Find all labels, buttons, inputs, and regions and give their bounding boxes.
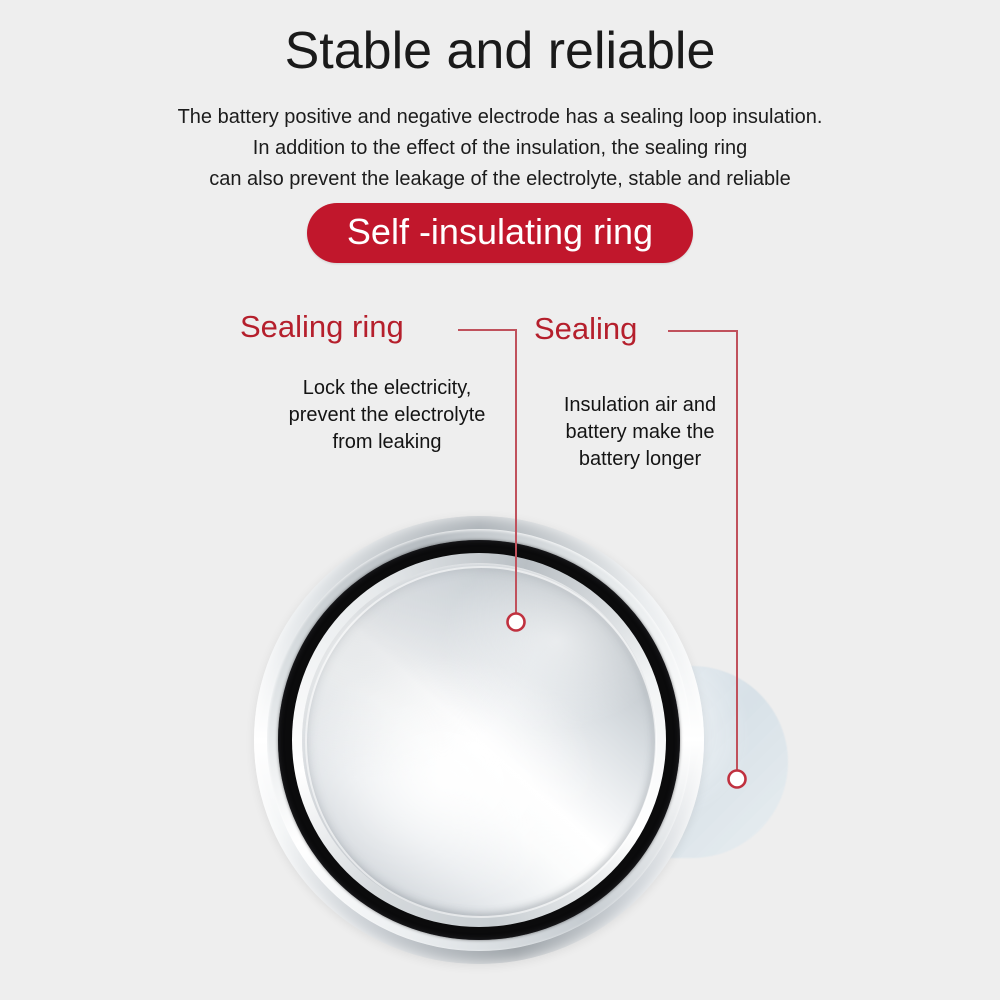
callout-description-sealing-ring: Lock the electricity, prevent the electr… <box>248 375 526 456</box>
page-title: Stable and reliable <box>0 22 1000 82</box>
callout-1-line-1: Lock the electricity, <box>248 375 526 402</box>
self-insulating-ring-banner: Self -insulating ring <box>307 203 693 263</box>
battery-metal-cap <box>302 563 656 917</box>
infographic-canvas: Stable and reliable The battery positive… <box>0 0 1000 1000</box>
callout-description-sealing: Insulation air and battery make the batt… <box>527 392 753 473</box>
callout-1-line-2: prevent the electrolyte <box>248 402 526 429</box>
callout-label-sealing-ring: Sealing ring <box>240 311 404 342</box>
body-paragraph: The battery positive and negative electr… <box>0 102 1000 195</box>
callout-2-line-3: battery longer <box>527 446 753 473</box>
callout-1-line-3: from leaking <box>248 429 526 456</box>
banner-row: Self -insulating ring <box>0 203 1000 263</box>
body-line-1: The battery positive and negative electr… <box>0 102 1000 133</box>
body-line-3: can also prevent the leakage of the elec… <box>0 164 1000 195</box>
body-line-2: In addition to the effect of the insulat… <box>0 133 1000 164</box>
callout-label-sealing: Sealing <box>534 313 637 344</box>
battery-cap-edge <box>305 566 657 918</box>
button-cell-battery-image <box>254 516 704 964</box>
callout-2-line-1: Insulation air and <box>527 392 753 419</box>
callout-2-line-2: battery make the <box>527 419 753 446</box>
